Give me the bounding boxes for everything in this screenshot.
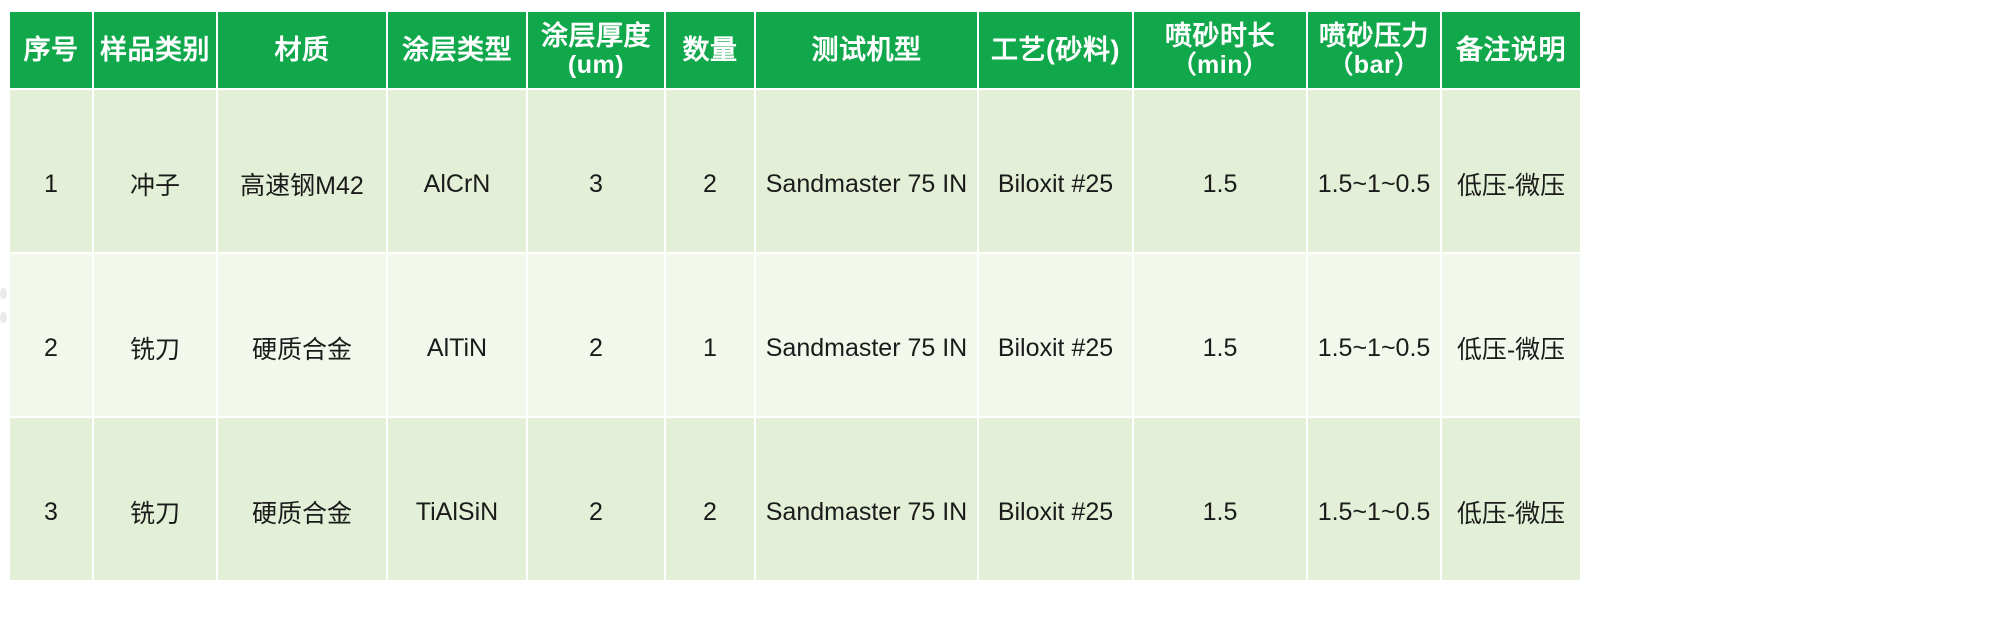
cell-text: 2 xyxy=(528,308,664,363)
table-row[interactable]: 2铣刀硬质合金AlTiN21Sandmaster 75 INBiloxit #2… xyxy=(10,254,2015,416)
column-header-label: 序号 xyxy=(24,35,79,65)
cell-工艺[interactable]: Biloxit #25 xyxy=(979,90,1132,252)
cell-text: 高速钢M42 xyxy=(218,140,386,202)
cell-text: AlTiN xyxy=(388,308,526,363)
cell-样品类别[interactable]: 铣刀 xyxy=(94,254,216,416)
cell-text: 2 xyxy=(10,308,92,363)
left-edge-artifact-1 xyxy=(0,288,7,299)
cell-text: 铣刀 xyxy=(94,304,216,366)
screenshot-root: 序号样品类别材质涂层类型涂层厚度(um)数量测试机型工艺(砂料)喷砂时长（min… xyxy=(0,0,2015,637)
cell-text: 1.5~1~0.5 xyxy=(1308,472,1440,527)
cell-text: 1.5~1~0.5 xyxy=(1308,308,1440,363)
cell-text: 1.5 xyxy=(1134,472,1306,527)
column-header-label: 材质 xyxy=(275,35,330,65)
cell-喷砂时长[interactable]: 1.5 xyxy=(1134,90,1306,252)
cell-测试机型[interactable]: Sandmaster 75 IN xyxy=(756,90,977,252)
sandblasting-test-table: 序号样品类别材质涂层类型涂层厚度(um)数量测试机型工艺(砂料)喷砂时长（min… xyxy=(8,10,2015,582)
column-header-label: 喷砂时长 xyxy=(1165,21,1275,51)
cell-空 xyxy=(1582,254,2015,416)
cell-text: 3 xyxy=(528,144,664,199)
table-body: 1冲子高速钢M42AlCrN32Sandmaster 75 INBiloxit … xyxy=(10,90,2015,580)
column-header-样品类别[interactable]: 样品类别 xyxy=(94,12,216,88)
column-header-label: 涂层类型 xyxy=(402,35,512,65)
column-header-label: 备注说明 xyxy=(1456,35,1566,65)
cell-序号[interactable]: 1 xyxy=(10,90,92,252)
cell-工艺[interactable]: Biloxit #25 xyxy=(979,418,1132,580)
cell-text: 硬质合金 xyxy=(218,304,386,366)
column-header-序号[interactable]: 序号 xyxy=(10,12,92,88)
column-header-label: 工艺(砂料) xyxy=(991,35,1120,65)
column-header-label: 数量 xyxy=(683,35,738,65)
cell-数量[interactable]: 2 xyxy=(666,90,754,252)
cell-测试机型[interactable]: Sandmaster 75 IN xyxy=(756,254,977,416)
column-header-工艺(砂料)[interactable]: 工艺(砂料) xyxy=(979,12,1132,88)
cell-text: Biloxit #25 xyxy=(979,472,1132,527)
column-header-涂层厚度[interactable]: 涂层厚度(um) xyxy=(528,12,664,88)
cell-text: 3 xyxy=(10,472,92,527)
cell-喷砂压力[interactable]: 1.5~1~0.5 xyxy=(1308,90,1440,252)
column-header-unit: （min） xyxy=(1134,51,1306,79)
column-header-label: 涂层厚度 xyxy=(541,21,651,51)
cell-text: 1.5 xyxy=(1134,144,1306,199)
cell-text: Sandmaster 75 IN xyxy=(756,472,977,527)
cell-喷砂压力[interactable]: 1.5~1~0.5 xyxy=(1308,254,1440,416)
table-row[interactable]: 3铣刀硬质合金TiAlSiN22Sandmaster 75 INBiloxit … xyxy=(10,418,2015,580)
cell-涂层类型[interactable]: AlCrN xyxy=(388,90,526,252)
cell-text: 2 xyxy=(666,144,754,199)
cell-工艺[interactable]: Biloxit #25 xyxy=(979,254,1132,416)
cell-text: 2 xyxy=(666,472,754,527)
cell-text: 1 xyxy=(10,144,92,199)
column-header-喷砂压力[interactable]: 喷砂压力（bar） xyxy=(1308,12,1440,88)
cell-材质[interactable]: 高速钢M42 xyxy=(218,90,386,252)
table-header-row: 序号样品类别材质涂层类型涂层厚度(um)数量测试机型工艺(砂料)喷砂时长（min… xyxy=(10,12,2015,88)
cell-空 xyxy=(1582,418,2015,580)
column-header-label: 喷砂压力 xyxy=(1319,21,1429,51)
cell-喷砂压力[interactable]: 1.5~1~0.5 xyxy=(1308,418,1440,580)
cell-涂层类型[interactable]: TiAlSiN xyxy=(388,418,526,580)
column-header-喷砂时长[interactable]: 喷砂时长（min） xyxy=(1134,12,1306,88)
column-header-unit: （bar） xyxy=(1308,51,1440,79)
cell-喷砂时长[interactable]: 1.5 xyxy=(1134,254,1306,416)
cell-text: Biloxit #25 xyxy=(979,308,1132,363)
cell-text: 低压-微压 xyxy=(1442,304,1580,366)
column-header-数量[interactable]: 数量 xyxy=(666,12,754,88)
cell-测试机型[interactable]: Sandmaster 75 IN xyxy=(756,418,977,580)
cell-text xyxy=(1582,158,2015,184)
cell-涂层厚度[interactable]: 3 xyxy=(528,90,664,252)
cell-text: Biloxit #25 xyxy=(979,144,1132,199)
cell-样品类别[interactable]: 铣刀 xyxy=(94,418,216,580)
cell-text: 1.5~1~0.5 xyxy=(1308,144,1440,199)
cell-材质[interactable]: 硬质合金 xyxy=(218,418,386,580)
cell-数量[interactable]: 1 xyxy=(666,254,754,416)
cell-涂层类型[interactable]: AlTiN xyxy=(388,254,526,416)
cell-备注说明[interactable]: 低压-微压 xyxy=(1442,254,1580,416)
cell-text: AlCrN xyxy=(388,144,526,199)
column-header-涂层类型[interactable]: 涂层类型 xyxy=(388,12,526,88)
cell-text: 铣刀 xyxy=(94,468,216,530)
column-header-blank-11[interactable] xyxy=(1582,12,2015,88)
cell-数量[interactable]: 2 xyxy=(666,418,754,580)
cell-序号[interactable]: 2 xyxy=(10,254,92,416)
column-header-label: 测试机型 xyxy=(812,35,922,65)
cell-样品类别[interactable]: 冲子 xyxy=(94,90,216,252)
column-header-备注说明[interactable]: 备注说明 xyxy=(1442,12,1580,88)
left-edge-artifact-2 xyxy=(0,312,7,323)
column-header-材质[interactable]: 材质 xyxy=(218,12,386,88)
cell-text: Sandmaster 75 IN xyxy=(756,308,977,363)
cell-涂层厚度[interactable]: 2 xyxy=(528,418,664,580)
cell-text: TiAlSiN xyxy=(388,472,526,527)
cell-text: Sandmaster 75 IN xyxy=(756,144,977,199)
cell-text: 2 xyxy=(528,472,664,527)
cell-喷砂时长[interactable]: 1.5 xyxy=(1134,418,1306,580)
cell-空 xyxy=(1582,90,2015,252)
cell-text: 1 xyxy=(666,308,754,363)
cell-涂层厚度[interactable]: 2 xyxy=(528,254,664,416)
cell-序号[interactable]: 3 xyxy=(10,418,92,580)
cell-text: 1.5 xyxy=(1134,308,1306,363)
cell-备注说明[interactable]: 低压-微压 xyxy=(1442,90,1580,252)
cell-text: 低压-微压 xyxy=(1442,468,1580,530)
cell-text: 硬质合金 xyxy=(218,468,386,530)
column-header-label: 样品类别 xyxy=(100,35,210,65)
cell-text: 冲子 xyxy=(94,140,216,202)
table-row[interactable]: 1冲子高速钢M42AlCrN32Sandmaster 75 INBiloxit … xyxy=(10,90,2015,252)
cell-材质[interactable]: 硬质合金 xyxy=(218,254,386,416)
column-header-unit: (um) xyxy=(528,51,664,79)
table-header: 序号样品类别材质涂层类型涂层厚度(um)数量测试机型工艺(砂料)喷砂时长（min… xyxy=(10,12,2015,88)
cell-text: 低压-微压 xyxy=(1442,140,1580,202)
column-header-测试机型[interactable]: 测试机型 xyxy=(756,12,977,88)
cell-备注说明[interactable]: 低压-微压 xyxy=(1442,418,1580,580)
cell-text xyxy=(1582,486,2015,512)
cell-text xyxy=(1582,322,2015,348)
